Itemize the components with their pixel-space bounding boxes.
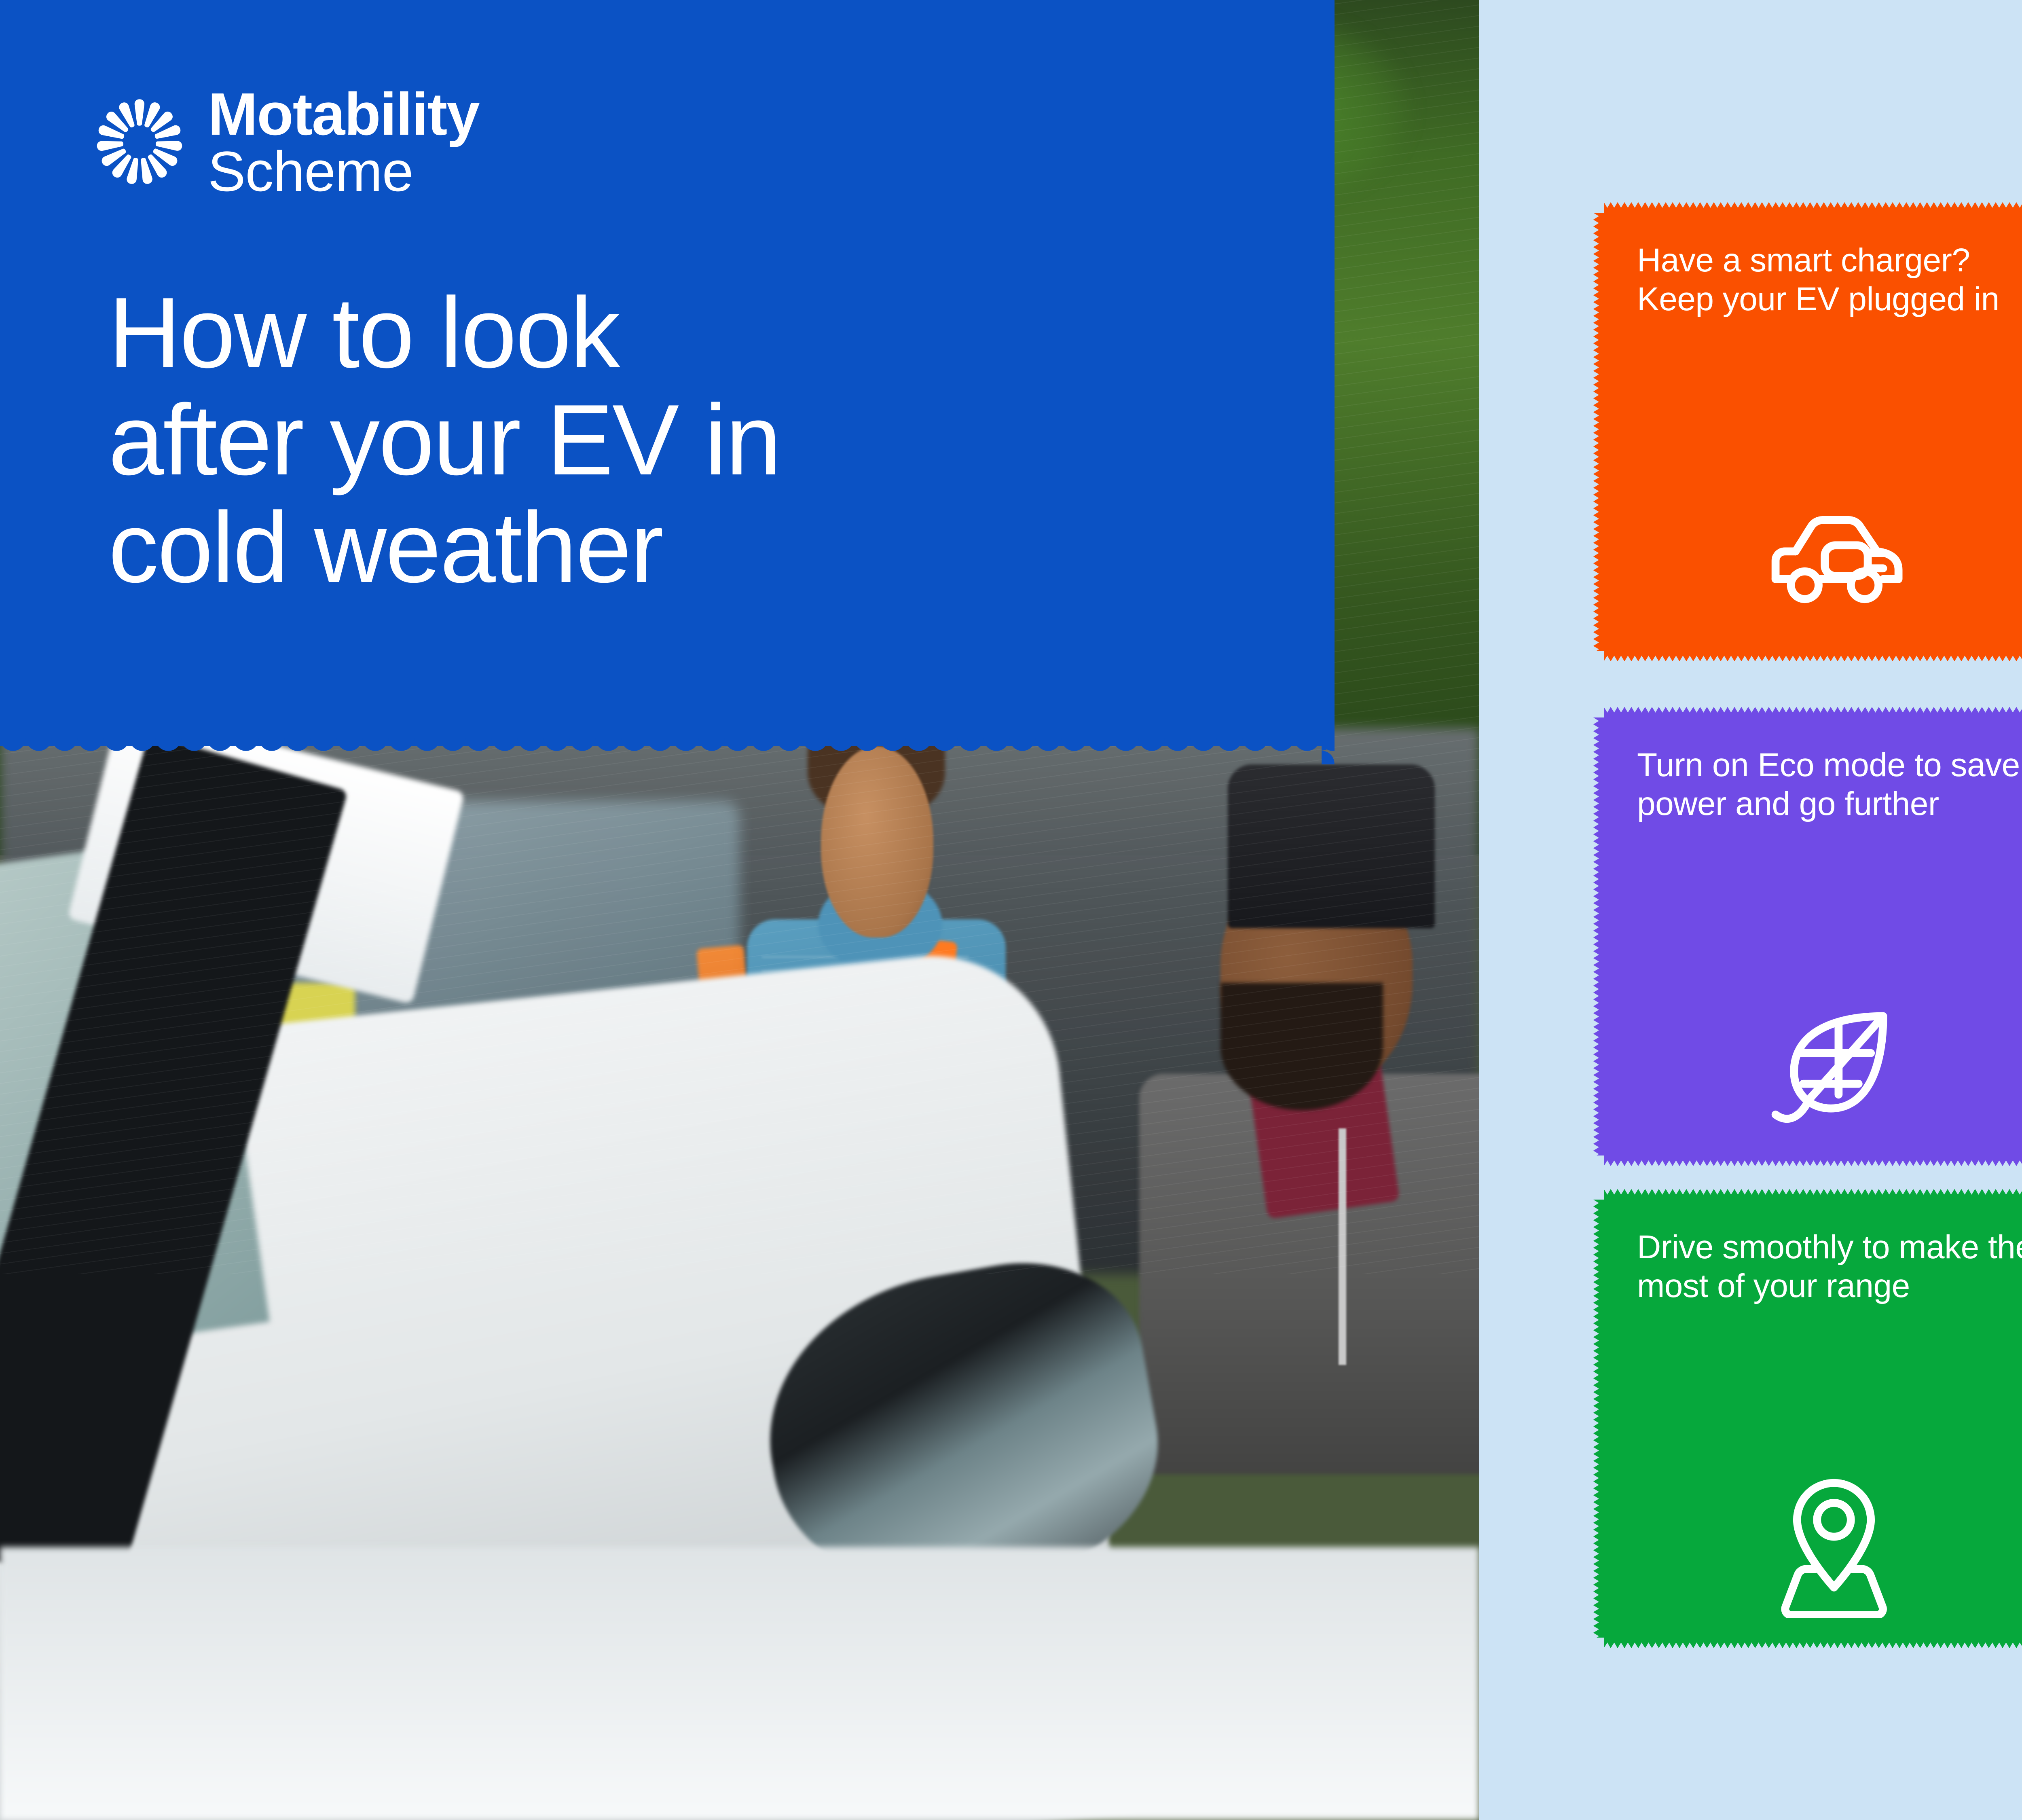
motability-sunburst-logo-icon [93, 95, 186, 188]
card-edge-top [1604, 707, 2022, 718]
card-edge-left [1593, 1200, 1605, 1638]
tip-title: Have a smart charger? Keep your EV plugg… [1637, 241, 2022, 319]
tips-grid: Have a smart charger? Keep your EV plugg… [1479, 0, 2022, 1820]
masthead-scalloped-right-edge [1322, 0, 1347, 764]
brand-logo[interactable]: Motability Scheme [93, 85, 479, 199]
card-edge-top [1604, 1189, 2022, 1200]
card-edge-left [1593, 717, 1605, 1155]
tip-title: Drive smoothly to make the most of your … [1637, 1228, 2022, 1306]
map-pin-icon [1757, 1464, 1911, 1618]
hero-panel: Motability Scheme How to look after your… [0, 0, 1479, 1820]
tip-card-eco-mode[interactable]: Turn on Eco mode to save power and go fu… [1593, 707, 2022, 1166]
card-edge-left [1593, 213, 1605, 651]
brand-name-line1: Motability [208, 85, 479, 144]
card-edge-top [1604, 202, 2022, 214]
tip-card-smart-charger[interactable]: Have a smart charger? Keep your EV plugg… [1593, 202, 2022, 661]
tip-card-drive-smoothly[interactable]: Drive smoothly to make the most of your … [1593, 1189, 2022, 1648]
page-title: How to look after your EV in cold weathe… [108, 279, 1200, 601]
leaf-icon [1757, 982, 1911, 1136]
masthead-scalloped-bottom-edge [0, 738, 1335, 764]
photo-car-bonnet [0, 1547, 1479, 1820]
tip-title: Turn on Eco mode to save power and go fu… [1637, 746, 2022, 823]
ev-car-plug-icon [1757, 478, 1911, 631]
brand-name-line2: Scheme [208, 144, 479, 199]
